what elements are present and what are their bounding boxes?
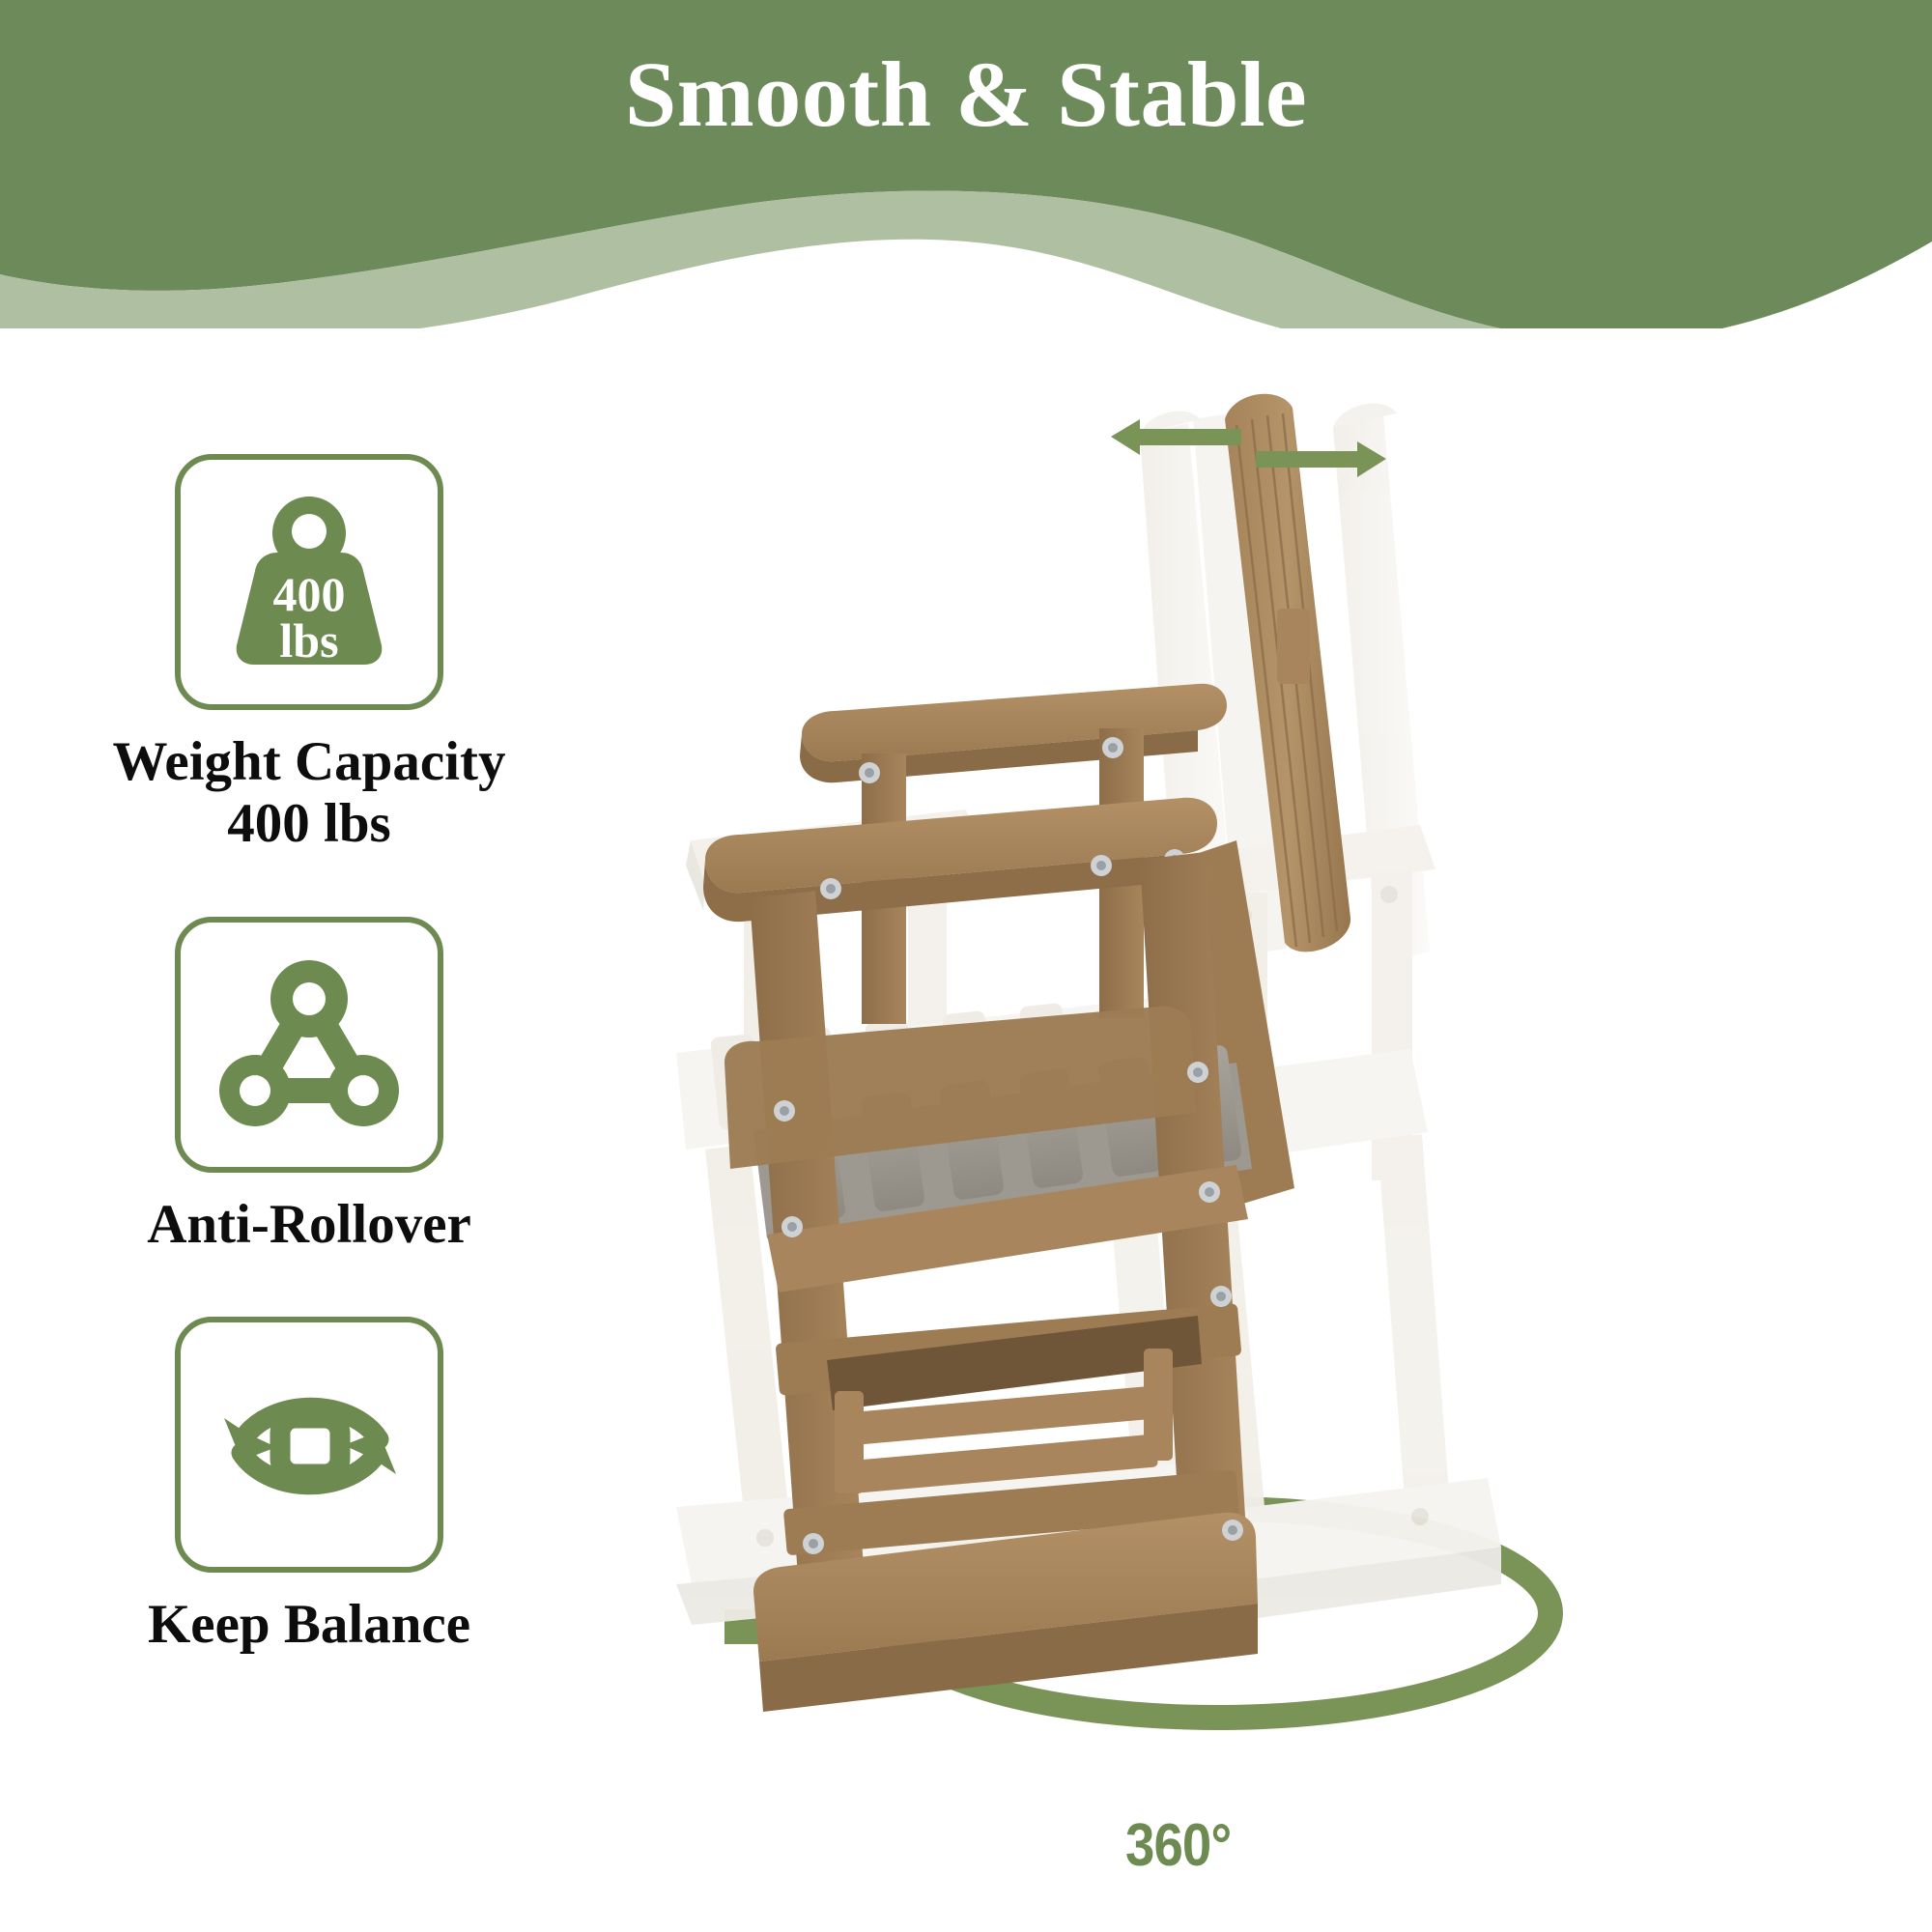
icon-box-weight-capacity: 400 lbs	[175, 454, 443, 710]
feature-list: 400 lbs Weight Capacity 400 lbs	[101, 454, 517, 1656]
feature-item-weight-capacity: 400 lbs Weight Capacity 400 lbs	[101, 454, 517, 855]
feature-label-anti-rollover: Anti-Rollover	[101, 1194, 517, 1256]
feature-label-keep-balance: Keep Balance	[101, 1594, 517, 1656]
weight-400lbs-icon: 400 lbs	[217, 493, 401, 671]
icon-box-anti-rollover	[175, 917, 443, 1173]
feature-item-anti-rollover: Anti-Rollover	[101, 917, 517, 1256]
header-band: Smooth & Stable	[0, 0, 1932, 328]
page-title: Smooth & Stable	[0, 46, 1932, 144]
glide-left-arrow	[1111, 419, 1241, 455]
icon-box-keep-balance	[175, 1317, 443, 1573]
rotation-degree-label: 360°	[1125, 1811, 1231, 1880]
keep-balance-rotation-icon	[213, 1358, 406, 1532]
center-square	[280, 1418, 340, 1474]
product-stage	[560, 319, 1932, 1932]
feature-item-keep-balance: Keep Balance	[101, 1317, 517, 1656]
glide-motion-arrows	[1092, 415, 1401, 493]
glide-right-arrow	[1256, 441, 1386, 477]
back-cross-brace	[1277, 609, 1310, 684]
feature-label-weight-capacity: Weight Capacity 400 lbs	[101, 731, 517, 855]
anti-rollover-triangle-icon	[214, 954, 404, 1134]
weight-icon-value-line2: lbs	[279, 613, 338, 668]
